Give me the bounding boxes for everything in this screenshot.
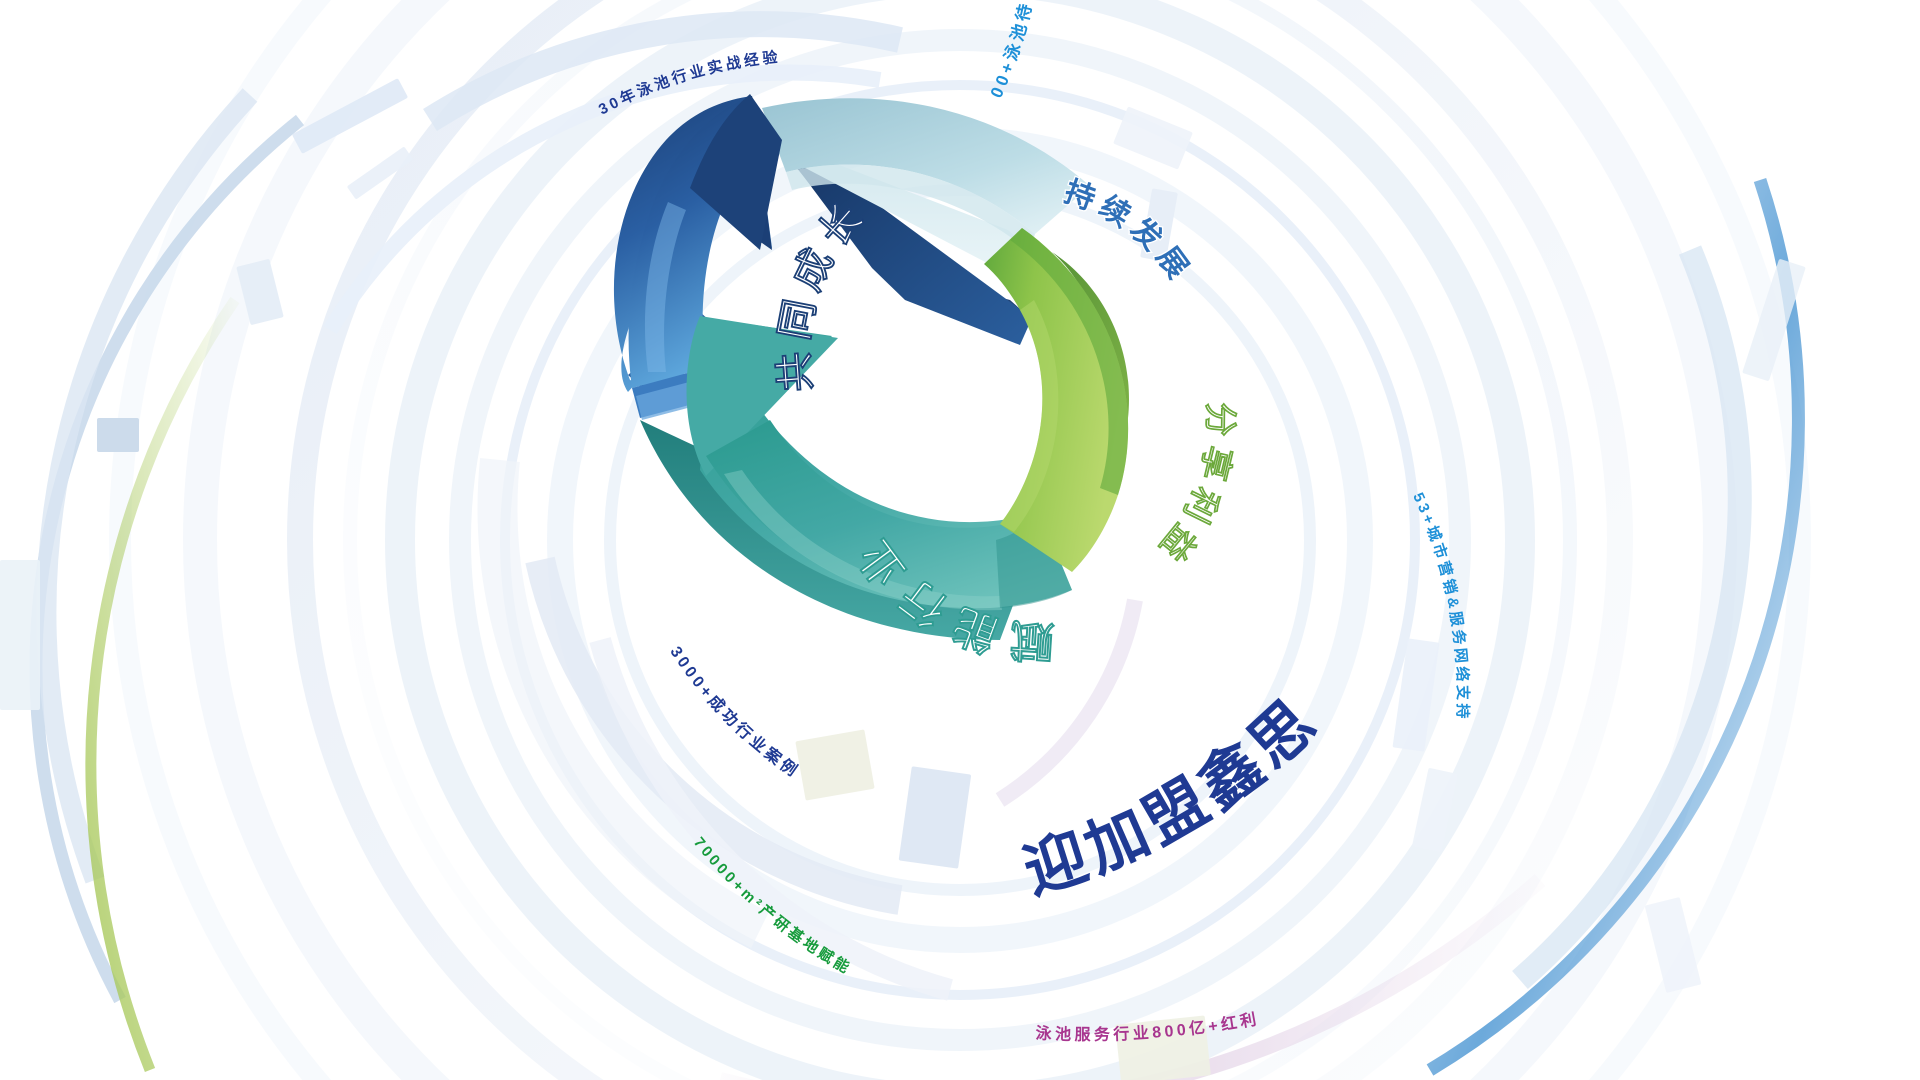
infographic-canvas: 共同成长 持续发展 分享利益 赋能行业 30年泳池行业实战经验 300000+泳… xyxy=(0,0,1920,1080)
seg-share-benefits[interactable] xyxy=(984,228,1128,572)
circular-arrow-infographic: 共同成长 持续发展 分享利益 赋能行业 30年泳池行业实战经验 300000+泳… xyxy=(0,0,1920,1080)
seg-share-benefits-label: 分享利益 xyxy=(1148,402,1239,573)
